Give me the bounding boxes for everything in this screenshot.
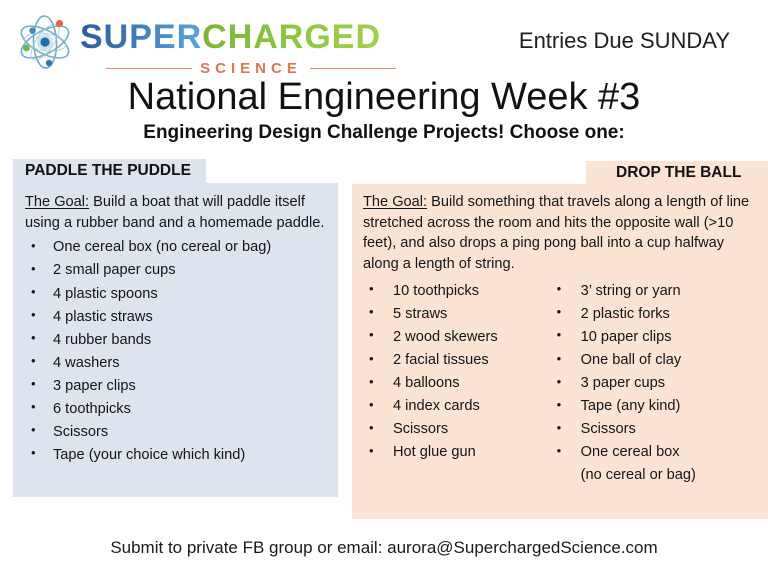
list-item: 10 paper clips — [551, 326, 758, 349]
list-item: 2 plastic forks — [551, 303, 758, 326]
logo-word-science: SCIENCE — [200, 60, 302, 77]
list-item: 4 washers — [25, 352, 326, 375]
list-item: Scissors — [25, 421, 326, 444]
logo-science-line: SCIENCE — [106, 60, 396, 77]
page-subtitle: Engineering Design Challenge Projects! C… — [0, 122, 768, 144]
list-item: Tape (your choice which kind) — [25, 444, 326, 467]
entries-due-label: Entries Due SUNDAY — [519, 28, 730, 54]
list-item: Tape (any kind) — [551, 395, 758, 418]
materials-column-1: 10 toothpicks 5 straws 2 wood skewers 2 … — [363, 277, 551, 487]
atom-icon — [14, 14, 76, 70]
materials-list-drop-col2: 3’ string or yarn 2 plastic forks 10 pap… — [551, 280, 758, 487]
panel-body-drop-the-ball: The Goal: Build something that travels a… — [352, 184, 768, 519]
panel-header-paddle-the-puddle: PADDLE THE PUDDLE — [13, 159, 206, 183]
logo-wordmark: SUPERCHARGED — [80, 20, 381, 54]
logo-rule-right — [310, 68, 396, 70]
list-item: 4 plastic straws — [25, 306, 326, 329]
goal-paragraph-paddle: The Goal: Build a boat that will paddle … — [25, 192, 326, 233]
list-item: One cereal box — [551, 441, 758, 464]
list-item: 4 plastic spoons — [25, 283, 326, 306]
list-item: 2 facial tissues — [363, 349, 551, 372]
logo-rule-left — [106, 68, 192, 70]
list-item: 3 paper clips — [25, 375, 326, 398]
goal-label: The Goal: — [25, 194, 89, 210]
page-title: National Engineering Week #3 — [0, 76, 768, 119]
list-item: Scissors — [363, 418, 551, 441]
list-item: Scissors — [551, 418, 758, 441]
list-item: 4 rubber bands — [25, 329, 326, 352]
list-item: 2 small paper cups — [25, 259, 326, 282]
list-item: One cereal box (no cereal or bag) — [25, 236, 326, 259]
list-item-continuation: (no cereal or bag) — [551, 464, 758, 487]
list-item: 4 index cards — [363, 395, 551, 418]
list-item: 3’ string or yarn — [551, 280, 758, 303]
logo-word-charged: CHARGED — [202, 18, 381, 56]
list-item: 10 toothpicks — [363, 280, 551, 303]
list-item: One ball of clay — [551, 349, 758, 372]
list-item: 4 balloons — [363, 372, 551, 395]
list-item: Hot glue gun — [363, 441, 551, 464]
submission-note: Submit to private FB group or email: aur… — [0, 538, 768, 558]
panel-header-label: DROP THE BALL — [616, 164, 741, 182]
list-item: 6 toothpicks — [25, 398, 326, 421]
materials-list-drop-col1: 10 toothpicks 5 straws 2 wood skewers 2 … — [363, 280, 551, 464]
materials-column-2: 3’ string or yarn 2 plastic forks 10 pap… — [551, 277, 758, 487]
materials-columns-drop: 10 toothpicks 5 straws 2 wood skewers 2 … — [363, 277, 758, 487]
list-item: 2 wood skewers — [363, 326, 551, 349]
list-item: 3 paper cups — [551, 372, 758, 395]
goal-label: The Goal: — [363, 194, 427, 210]
list-item: 5 straws — [363, 303, 551, 326]
panel-header-label: PADDLE THE PUDDLE — [25, 162, 191, 180]
panel-header-drop-the-ball: DROP THE BALL — [586, 161, 768, 184]
goal-paragraph-drop: The Goal: Build something that travels a… — [363, 192, 758, 275]
panel-body-paddle-the-puddle: The Goal: Build a boat that will paddle … — [13, 183, 338, 497]
logo-word-super: SUPER — [80, 18, 202, 56]
brand-logo: SUPERCHARGED SCIENCE — [14, 8, 394, 78]
materials-list-paddle: One cereal box (no cereal or bag) 2 smal… — [25, 236, 326, 466]
